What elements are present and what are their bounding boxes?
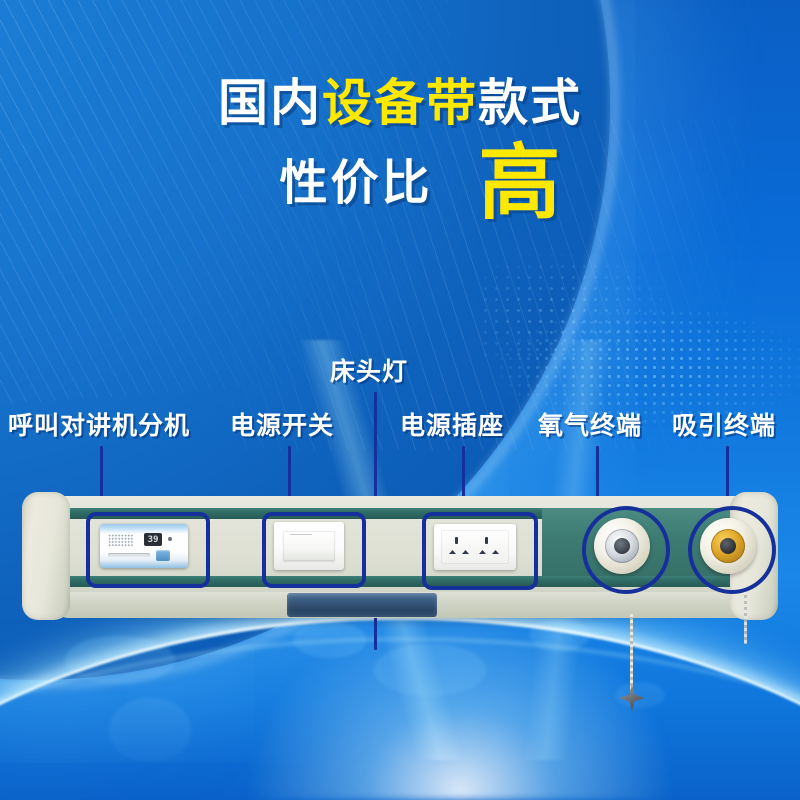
- horizon-arc-outer: [0, 638, 800, 800]
- callout-oxygen-terminal: 氧气终端: [538, 414, 642, 439]
- callout-power-socket-label: 电源插座: [400, 412, 504, 440]
- headline-line-1: 国内设备带款式: [0, 78, 800, 128]
- panel-blue-channel: [287, 593, 437, 617]
- horizon-glow: [250, 610, 670, 800]
- horizon-arc: [0, 616, 800, 800]
- callout-power-switch: 电源开关: [230, 414, 334, 439]
- highlight-bezel-power-switch: [262, 512, 366, 588]
- highlight-bezel-oxygen: [582, 506, 670, 594]
- panel-endcap-left: [22, 492, 70, 620]
- headline-part-2: 设备带: [322, 75, 478, 131]
- pull-cord[interactable]: [630, 614, 633, 692]
- callout-intercom-label: 呼叫对讲机分机: [8, 412, 190, 440]
- world-map-silhouette: [0, 600, 800, 800]
- halftone-dot-map-secondary: [480, 250, 680, 360]
- pull-cord-handle-icon[interactable]: [619, 684, 645, 712]
- callout-suction-terminal-label: 吸引终端: [672, 412, 776, 440]
- medical-bedhead-panel: 39: [22, 496, 778, 628]
- callout-oxygen-terminal-label: 氧气终端: [538, 412, 642, 440]
- highlight-bezel-suction: [688, 506, 776, 594]
- callout-power-socket: 电源插座: [400, 414, 504, 439]
- callout-power-switch-label: 电源开关: [230, 412, 334, 440]
- headline-emphasis-text: 高: [479, 148, 561, 220]
- highlight-bezel-intercom: [86, 512, 210, 588]
- headline-line-2: 性价比 高: [0, 148, 800, 220]
- headline-part-1: 国内: [218, 75, 322, 131]
- callout-intercom: 呼叫对讲机分机: [8, 414, 190, 439]
- callout-bed-lamp-label: 床头灯: [330, 358, 408, 386]
- headline-block: 国内设备带款式 性价比 高: [0, 78, 800, 220]
- pull-cord-secondary[interactable]: [744, 592, 747, 644]
- highlight-bezel-power-socket: [422, 512, 538, 590]
- callout-bed-lamp: 床头灯: [330, 360, 408, 385]
- headline-value-text: 性价比: [279, 160, 432, 208]
- promo-banner: 国内设备带款式 性价比 高 呼叫对讲机分机 电源开关 床头灯 电源插座 氧气终端…: [0, 0, 800, 800]
- headline-part-3: 款式: [478, 75, 582, 131]
- callout-suction-terminal: 吸引终端: [672, 414, 776, 439]
